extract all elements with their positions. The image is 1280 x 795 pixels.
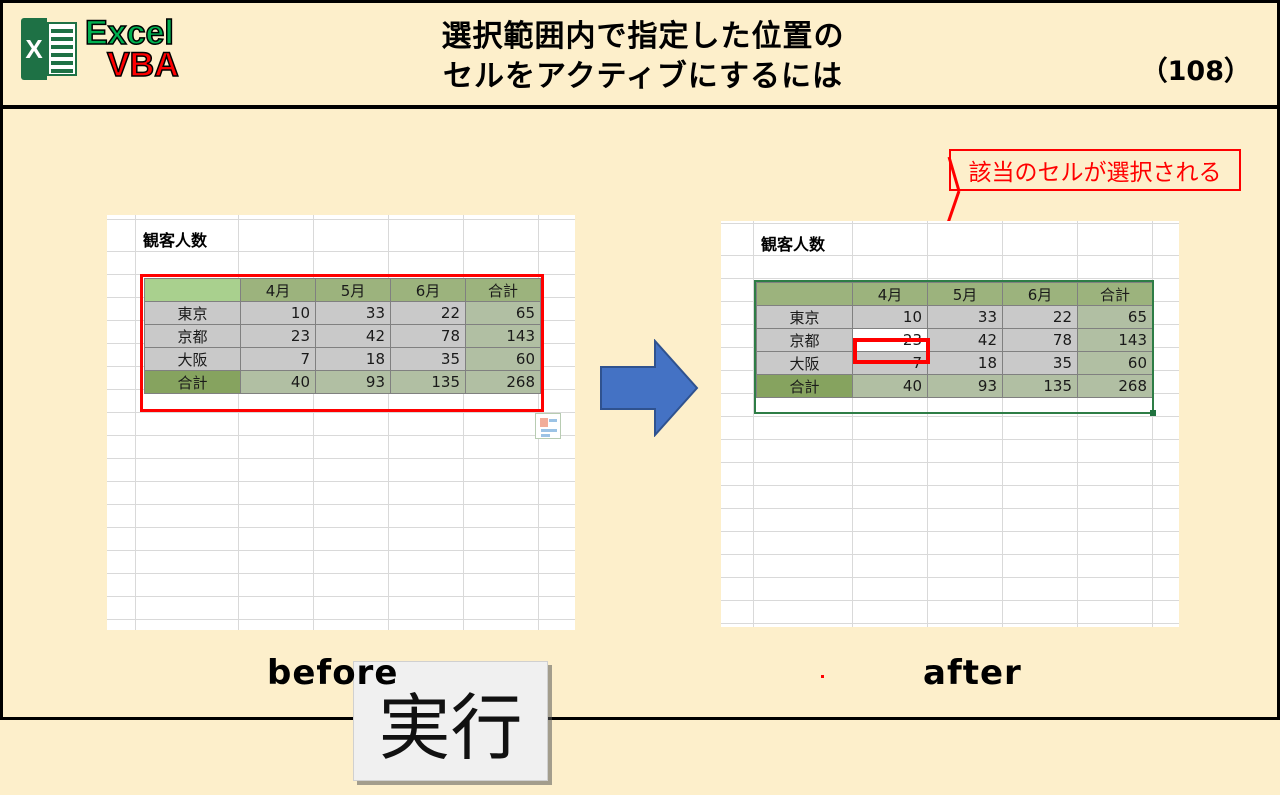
cell-osaka-may[interactable]: 18 xyxy=(316,348,391,371)
header-cell-jun[interactable]: 6月 xyxy=(1003,283,1078,306)
table-row: 京都 23 42 78 143 xyxy=(757,329,1153,352)
cell-kyoto-may[interactable]: 42 xyxy=(316,325,391,348)
header-cell-apr[interactable]: 4月 xyxy=(853,283,928,306)
row-label-osaka[interactable]: 大阪 xyxy=(757,352,853,375)
cell-osaka-total[interactable]: 60 xyxy=(1078,352,1153,375)
right-arrow-icon xyxy=(599,339,699,437)
table-header-row: 4月 5月 6月 合計 xyxy=(757,283,1153,306)
caption-before: before xyxy=(267,653,398,693)
excel-logo-x: X xyxy=(21,18,47,80)
table-row: 京都 23 42 78 143 xyxy=(145,325,541,348)
header-corner-cell[interactable] xyxy=(757,283,853,306)
cell-total-apr[interactable]: 40 xyxy=(853,375,928,398)
cell-kyoto-jun[interactable]: 78 xyxy=(1003,329,1078,352)
table-total-row: 合計 40 93 135 268 xyxy=(757,375,1153,398)
cell-osaka-may[interactable]: 18 xyxy=(928,352,1003,375)
slide-number: （108） xyxy=(1141,49,1251,88)
after-spreadsheet-panel: 観客人数 4月 5月 6月 合計 東京 10 33 22 65 京都 23 42 xyxy=(721,221,1179,627)
table-row: 東京 10 33 22 65 xyxy=(145,302,541,325)
cell-kyoto-may[interactable]: 42 xyxy=(928,329,1003,352)
cell-total-apr[interactable]: 40 xyxy=(241,371,316,394)
header-cell-total[interactable]: 合計 xyxy=(466,279,541,302)
header-cell-apr[interactable]: 4月 xyxy=(241,279,316,302)
callout-text: 該当のセルが選択される xyxy=(969,153,1222,187)
cell-osaka-jun[interactable]: 35 xyxy=(391,348,466,371)
row-label-tokyo[interactable]: 東京 xyxy=(757,306,853,329)
cell-total-total[interactable]: 268 xyxy=(1078,375,1153,398)
cell-kyoto-jun[interactable]: 78 xyxy=(391,325,466,348)
cell-total-may[interactable]: 93 xyxy=(316,371,391,394)
header-corner-cell[interactable] xyxy=(145,279,241,302)
header-cell-total[interactable]: 合計 xyxy=(1078,283,1153,306)
header-cell-may[interactable]: 5月 xyxy=(316,279,391,302)
slide-header: X Excel VBA 選択範囲内で指定した位置の セルをアクティブにするには … xyxy=(3,3,1277,109)
cell-tokyo-jun[interactable]: 22 xyxy=(1003,306,1078,329)
before-spreadsheet-panel: 観客人数 4月 5月 6月 合計 東京 10 33 22 65 京都 23 42 xyxy=(107,215,575,630)
row-label-kyoto[interactable]: 京都 xyxy=(757,329,853,352)
page-title: 選択範囲内で指定した位置の セルをアクティブにするには xyxy=(303,17,983,97)
logo-text-excel: Excel xyxy=(85,17,179,49)
table-row: 東京 10 33 22 65 xyxy=(757,306,1153,329)
cell-total-jun[interactable]: 135 xyxy=(391,371,466,394)
slide: X Excel VBA 選択範囲内で指定した位置の セルをアクティブにするには … xyxy=(0,0,1280,720)
run-button-label: 実行 xyxy=(378,669,522,774)
row-label-kyoto[interactable]: 京都 xyxy=(145,325,241,348)
cell-tokyo-may[interactable]: 33 xyxy=(928,306,1003,329)
row-label-osaka[interactable]: 大阪 xyxy=(145,348,241,371)
cell-kyoto-total[interactable]: 143 xyxy=(1078,329,1153,352)
table-header-row: 4月 5月 6月 合計 xyxy=(145,279,541,302)
active-cell-kyoto-apr[interactable]: 23 xyxy=(853,329,928,352)
cell-osaka-apr[interactable]: 7 xyxy=(853,352,928,375)
page-title-line2: セルをアクティブにするには xyxy=(303,57,983,97)
excel-vba-logo: X Excel VBA xyxy=(21,17,179,82)
row-label-total[interactable]: 合計 xyxy=(757,375,853,398)
callout-annotation: 該当のセルが選択される xyxy=(949,149,1241,191)
sheet-title: 観客人数 xyxy=(761,231,825,255)
sheet-title: 観客人数 xyxy=(143,227,207,251)
logo-text-vba: VBA xyxy=(107,49,179,81)
row-label-total[interactable]: 合計 xyxy=(145,371,241,394)
page-title-line1: 選択範囲内で指定した位置の xyxy=(303,17,983,57)
cell-total-may[interactable]: 93 xyxy=(928,375,1003,398)
before-data-table[interactable]: 4月 5月 6月 合計 東京 10 33 22 65 京都 23 42 78 1… xyxy=(144,278,541,394)
table-total-row: 合計 40 93 135 268 xyxy=(145,371,541,394)
table-row: 大阪 7 18 35 60 xyxy=(757,352,1153,375)
cell-osaka-jun[interactable]: 35 xyxy=(1003,352,1078,375)
cell-total-total[interactable]: 268 xyxy=(466,371,541,394)
cell-tokyo-apr[interactable]: 10 xyxy=(241,302,316,325)
header-cell-may[interactable]: 5月 xyxy=(928,283,1003,306)
paste-options-icon[interactable] xyxy=(535,413,561,439)
cell-tokyo-total[interactable]: 65 xyxy=(466,302,541,325)
cell-kyoto-apr[interactable]: 23 xyxy=(241,325,316,348)
cell-kyoto-total[interactable]: 143 xyxy=(466,325,541,348)
after-data-table[interactable]: 4月 5月 6月 合計 東京 10 33 22 65 京都 23 42 78 1… xyxy=(756,282,1153,398)
row-label-tokyo[interactable]: 東京 xyxy=(145,302,241,325)
cell-osaka-apr[interactable]: 7 xyxy=(241,348,316,371)
excel-logo-icon: X xyxy=(21,18,77,80)
table-row: 大阪 7 18 35 60 xyxy=(145,348,541,371)
cell-tokyo-jun[interactable]: 22 xyxy=(391,302,466,325)
header-cell-jun[interactable]: 6月 xyxy=(391,279,466,302)
cell-tokyo-apr[interactable]: 10 xyxy=(853,306,928,329)
caption-after: after xyxy=(923,653,1022,693)
cell-total-jun[interactable]: 135 xyxy=(1003,375,1078,398)
cell-tokyo-total[interactable]: 65 xyxy=(1078,306,1153,329)
cell-osaka-total[interactable]: 60 xyxy=(466,348,541,371)
decorative-dot xyxy=(821,675,824,678)
cell-tokyo-may[interactable]: 33 xyxy=(316,302,391,325)
